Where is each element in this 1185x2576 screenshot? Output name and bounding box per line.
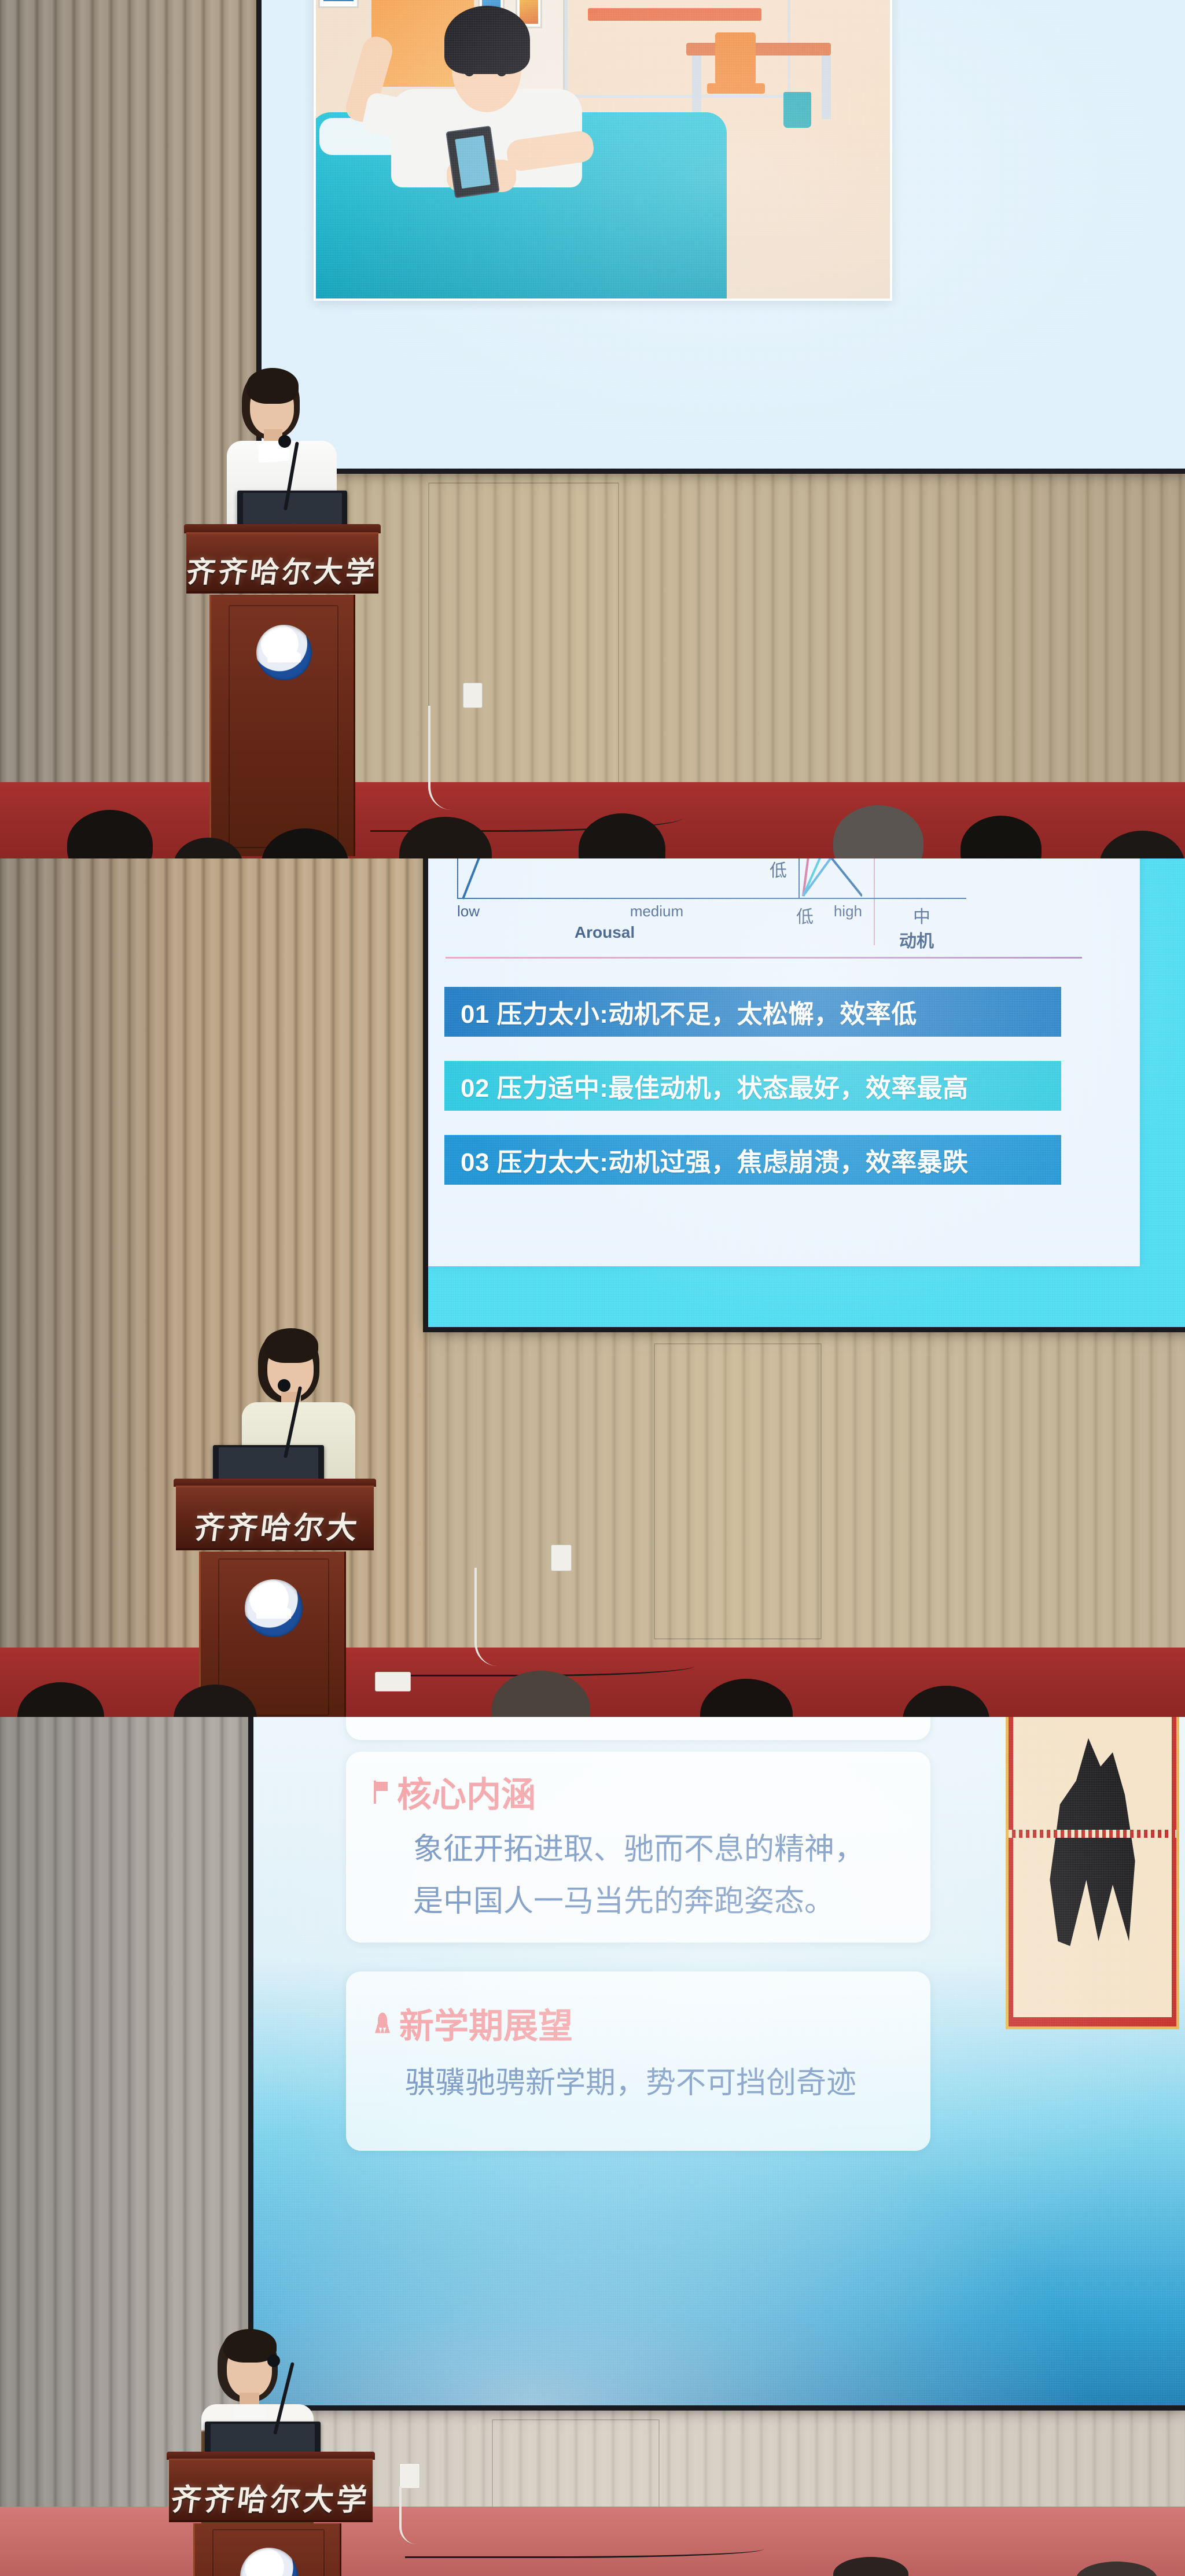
podium-3: 齐齐哈尔大学 — [167, 2452, 375, 2576]
cartoon-trash-bin — [783, 92, 811, 128]
cartoon-poster-art — [323, 0, 353, 1]
stress-bar-2: 02 压力适中:最佳动机，状态最好，效率最高 — [444, 1061, 1061, 1111]
speaker-2-hair — [264, 1328, 318, 1363]
university-emblem-1 — [256, 625, 312, 680]
stress-bar-1: 01 压力太小:动机不足，太松懈，效率低 — [444, 987, 1061, 1037]
chart-ylabel-right: 低 — [770, 858, 787, 882]
podium-3-plate: 齐齐哈尔大学 — [169, 2459, 373, 2522]
cartoon-boy-eye-right — [496, 65, 507, 76]
slide-2-page: low medium high Arousal — [428, 858, 1140, 1266]
arousal-chart-left: low medium high Arousal — [446, 858, 764, 945]
cartoon-bunk-shelf — [588, 8, 761, 21]
tick-medium: medium — [630, 902, 683, 920]
podium-1: 齐齐哈尔大学 — [184, 509, 381, 856]
stress-bar-1-number: 01 — [461, 1000, 490, 1029]
power-cable-2 — [474, 1568, 561, 1666]
microphone-head-2 — [278, 1379, 290, 1392]
poster-inner — [1013, 1717, 1172, 2017]
cartoon-desk-leg-b — [822, 56, 831, 119]
cartoon-desk-leg-a — [692, 56, 701, 119]
cartoon-boy-eye-left — [464, 65, 474, 76]
podium-plate-text-1: 齐齐哈尔大学 — [184, 549, 381, 591]
chart-tick-right-mid: 中 — [913, 902, 930, 928]
power-cable-3 — [399, 2486, 417, 2544]
cartoon-desk — [686, 43, 831, 56]
cartoon-chair-back — [715, 32, 756, 84]
arousal-chart-right: 低 低 中 动机 — [764, 858, 1082, 945]
slide-3-card-outlook-line-1: 骐骥驰骋新学期，势不可挡创奇迹 — [405, 2058, 856, 2102]
podium-1-plate: 齐齐哈尔大学 — [186, 532, 378, 594]
cartoon-illustration — [314, 0, 892, 301]
wall-outlet-1 — [463, 683, 483, 708]
university-emblem-2 — [245, 1579, 303, 1637]
university-emblem-3 — [240, 2548, 298, 2576]
microphone-head-1 — [278, 435, 291, 448]
wall-door-panel — [654, 1343, 822, 1639]
podium-plate-text-3: 齐齐哈尔大学 — [166, 2475, 375, 2519]
chart-xlabel-right: 动机 — [899, 927, 934, 952]
photo-panel-2: low medium high Arousal — [0, 858, 1185, 1717]
slide-3-card-core-heading-row: 核心内涵 — [374, 1767, 536, 1817]
stress-bar-3-text: 03 压力太大:动机过强，焦虑崩溃，效率暴跌 — [461, 1141, 969, 1178]
slide-2-divider-rule — [446, 957, 1082, 959]
podium-2: 齐齐哈尔大学 — [174, 1472, 376, 1717]
slide-3-horse-poster — [1006, 1717, 1179, 2029]
slide-3-card-core-line-1: 象征开拓进取、驰而不息的精神， — [413, 1825, 864, 1868]
slide-2: low medium high Arousal — [428, 858, 1185, 1327]
stress-bar-2-text: 02 压力适中:最佳动机，状态最好，效率最高 — [461, 1067, 969, 1104]
stress-bar-3-number: 03 — [461, 1148, 490, 1177]
slide-3: 兮，来吾道夫先路。” 核心内涵 象征开拓进取、驰而不息的精神， 是中国人一马当先… — [253, 1717, 1185, 2405]
laptop-3 — [205, 2422, 321, 2455]
wall-outlet-3 — [399, 2463, 420, 2489]
projection-screen-1 — [262, 0, 1185, 469]
stress-bar-2-label: 压力适中:最佳动机，状态最好，效率最高 — [497, 1074, 969, 1103]
projection-screen-3: 兮，来吾道夫先路。” 核心内涵 象征开拓进取、驰而不息的精神， 是中国人一马当先… — [253, 1717, 1185, 2405]
photo-panel-3: 兮，来吾道夫先路。” 核心内涵 象征开拓进取、驰而不息的精神， 是中国人一马当先… — [0, 1717, 1185, 2576]
chart-curve-right — [798, 858, 966, 900]
floor-socket-2 — [375, 1672, 411, 1691]
slide-3-quote-text: 兮，来吾道夫先路。” — [421, 1717, 697, 1722]
arousal-charts: low medium high Arousal — [446, 858, 1082, 945]
flag-icon — [374, 1781, 389, 1804]
rocket-icon — [374, 2013, 391, 2035]
laptop-1 — [237, 491, 347, 526]
stress-bar-1-label: 压力太小:动机不足，太松懈，效率低 — [497, 1000, 917, 1029]
photo-collage: 齐齐哈尔大学 — [0, 0, 1185, 2576]
photo-panel-1: 齐齐哈尔大学 — [0, 0, 1185, 858]
slide-1 — [262, 0, 1185, 469]
slide-3-card-core-heading: 核心内涵 — [397, 1767, 536, 1817]
stress-bar-1-text: 01 压力太小:动机不足，太松懈，效率低 — [461, 993, 917, 1030]
stress-bar-3: 03 压力太大:动机过强，焦虑崩溃，效率暴跌 — [444, 1135, 1061, 1185]
slide-3-card-outlook-heading: 新学期展望 — [399, 1998, 573, 2048]
power-cable-1 — [428, 706, 474, 810]
laptop-2 — [213, 1445, 324, 1482]
speaker-1-hair — [246, 368, 299, 404]
microphone-head-3 — [267, 2354, 280, 2367]
slide-3-card-core-line-2: 是中国人一马当先的奔跑姿态。 — [413, 1877, 834, 1920]
chart-xlabel-left: Arousal — [446, 923, 764, 942]
cartoon-boy-hair — [444, 6, 530, 74]
poster-band-bottom — [1009, 1830, 1176, 1838]
projection-screen-2: low medium high Arousal — [428, 858, 1185, 1327]
wall-lower-band — [255, 470, 1185, 799]
stress-bar-3-label: 压力太大:动机过强，焦虑崩溃，效率暴跌 — [497, 1148, 969, 1177]
wall-lower-slats — [255, 470, 1185, 799]
podium-3-body — [193, 2523, 341, 2576]
cartoon-chair-seat — [707, 83, 765, 94]
slide-3-card-outlook-heading-row: 新学期展望 — [374, 1998, 573, 2048]
cartoon-phone — [446, 126, 499, 198]
stress-bar-2-number: 02 — [461, 1074, 490, 1103]
chart-tick-right-low: 低 — [796, 902, 814, 928]
cartoon-poster-left — [318, 0, 359, 8]
podium-2-plate: 齐齐哈尔大学 — [176, 1486, 374, 1550]
tick-low: low — [457, 902, 480, 920]
podium-1-body — [209, 595, 355, 856]
